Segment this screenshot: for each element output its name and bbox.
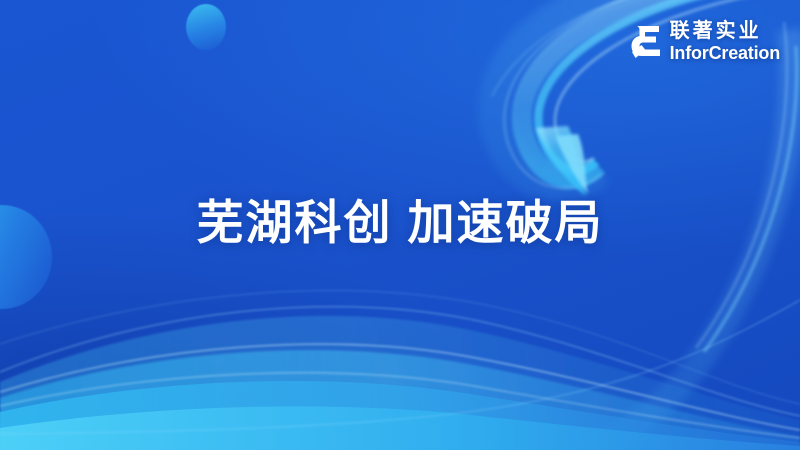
page-title: 芜湖科创 加速破局	[0, 196, 800, 250]
brand-logo-text: 联著实业 InforCreation	[670, 21, 780, 62]
inforcreation-logo-mark	[630, 23, 663, 61]
company-name-en: InforCreation	[670, 44, 780, 62]
slide-canvas: 芜湖科创 加速破局 联著实业 InforCreation	[0, 0, 800, 450]
brand-logo: 联著实业 InforCreation	[630, 21, 780, 62]
gradient-circle-top	[186, 4, 226, 50]
company-name-cn: 联著实业	[670, 21, 780, 41]
